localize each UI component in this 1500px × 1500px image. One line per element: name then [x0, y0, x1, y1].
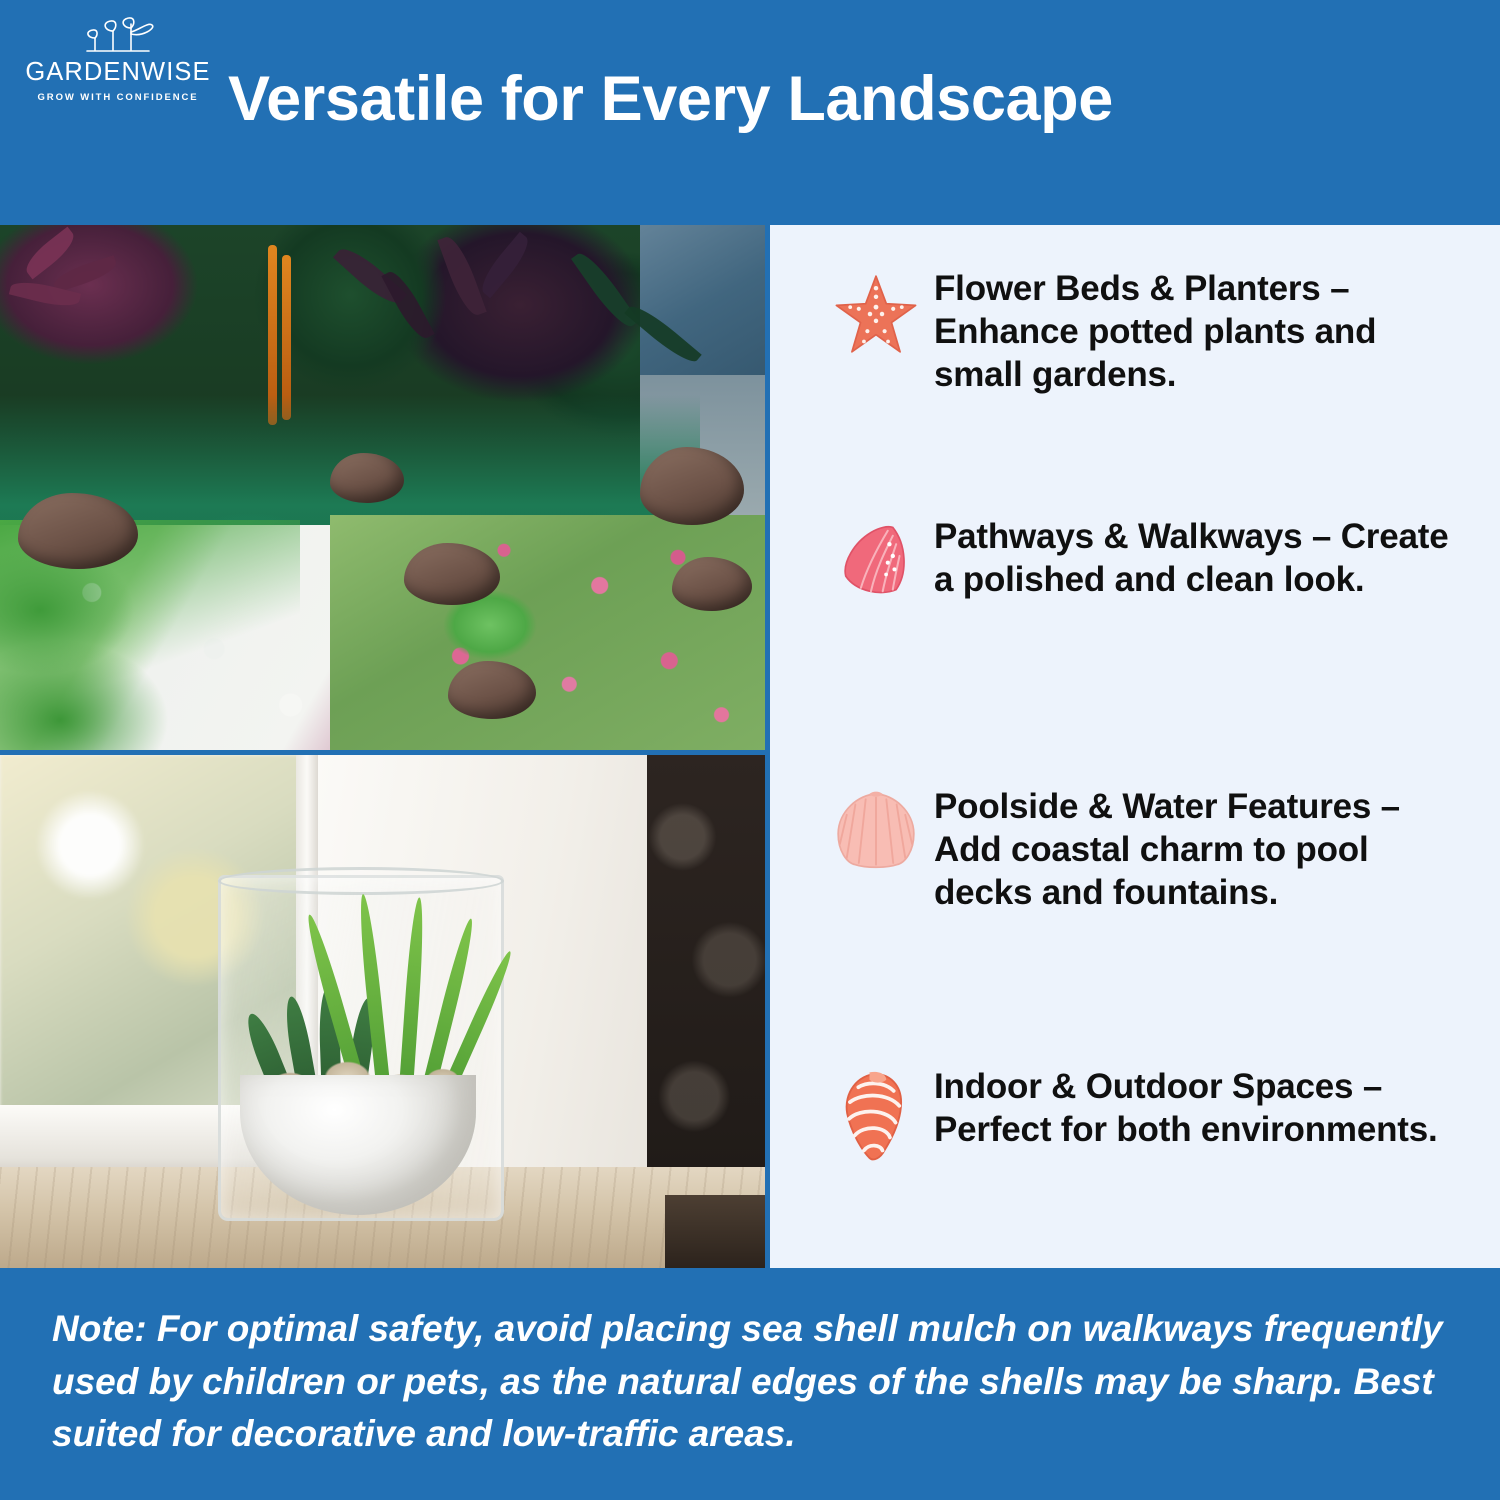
- content-area: Flower Beds & Planters – Enhance potted …: [0, 225, 1500, 1268]
- glass-cylinder-rim: [218, 867, 504, 895]
- brand-name: GARDENWISE: [18, 60, 218, 86]
- terrarium-photo-canvas: [0, 755, 765, 1268]
- photo-glass-terrarium-windowsill: [0, 755, 765, 1268]
- scallop-shell-icon: [828, 789, 924, 875]
- benefit-text: Flower Beds & Planters – Enhance potted …: [934, 267, 1500, 396]
- brand-logo: GARDENWISE GROW WITH CONFIDENCE: [18, 14, 218, 103]
- benefit-text: Pathways & Walkways – Create a polished …: [934, 515, 1500, 601]
- photo-column: [0, 225, 765, 1268]
- wooden-shelf-shadow: [665, 1195, 765, 1268]
- brand-tagline: GROW WITH CONFIDENCE: [18, 92, 218, 103]
- benefit-text: Indoor & Outdoor Spaces – Perfect for bo…: [934, 1065, 1500, 1151]
- starfish-icon: [828, 271, 924, 357]
- benefits-panel: Flower Beds & Planters – Enhance potted …: [770, 225, 1500, 1268]
- benefit-item-pathways: Pathways & Walkways – Create a polished …: [770, 515, 1500, 603]
- photo-tropical-garden-gravel-path: [0, 225, 765, 750]
- header-bar: GARDENWISE GROW WITH CONFIDENCE Versatil…: [0, 0, 1500, 222]
- page-title: Versatile for Every Landscape: [228, 66, 1478, 132]
- clam-shell-icon: [828, 519, 924, 603]
- safety-note: Note: For optimal safety, avoid placing …: [52, 1303, 1462, 1461]
- sprout-leaves-icon: [73, 14, 163, 58]
- benefit-item-indoor-outdoor: Indoor & Outdoor Spaces – Perfect for bo…: [770, 1065, 1500, 1165]
- benefit-text: Poolside & Water Features – Add coastal …: [934, 785, 1500, 914]
- conch-shell-icon: [828, 1069, 924, 1165]
- infographic-page: GARDENWISE GROW WITH CONFIDENCE Versatil…: [0, 0, 1500, 1500]
- dark-wallpaper-panel: [647, 755, 765, 1210]
- garden-photo-canvas: [0, 225, 765, 750]
- footer-bar: Note: For optimal safety, avoid placing …: [0, 1268, 1500, 1500]
- benefit-item-poolside: Poolside & Water Features – Add coastal …: [770, 785, 1500, 914]
- benefit-item-flower-beds: Flower Beds & Planters – Enhance potted …: [770, 267, 1500, 396]
